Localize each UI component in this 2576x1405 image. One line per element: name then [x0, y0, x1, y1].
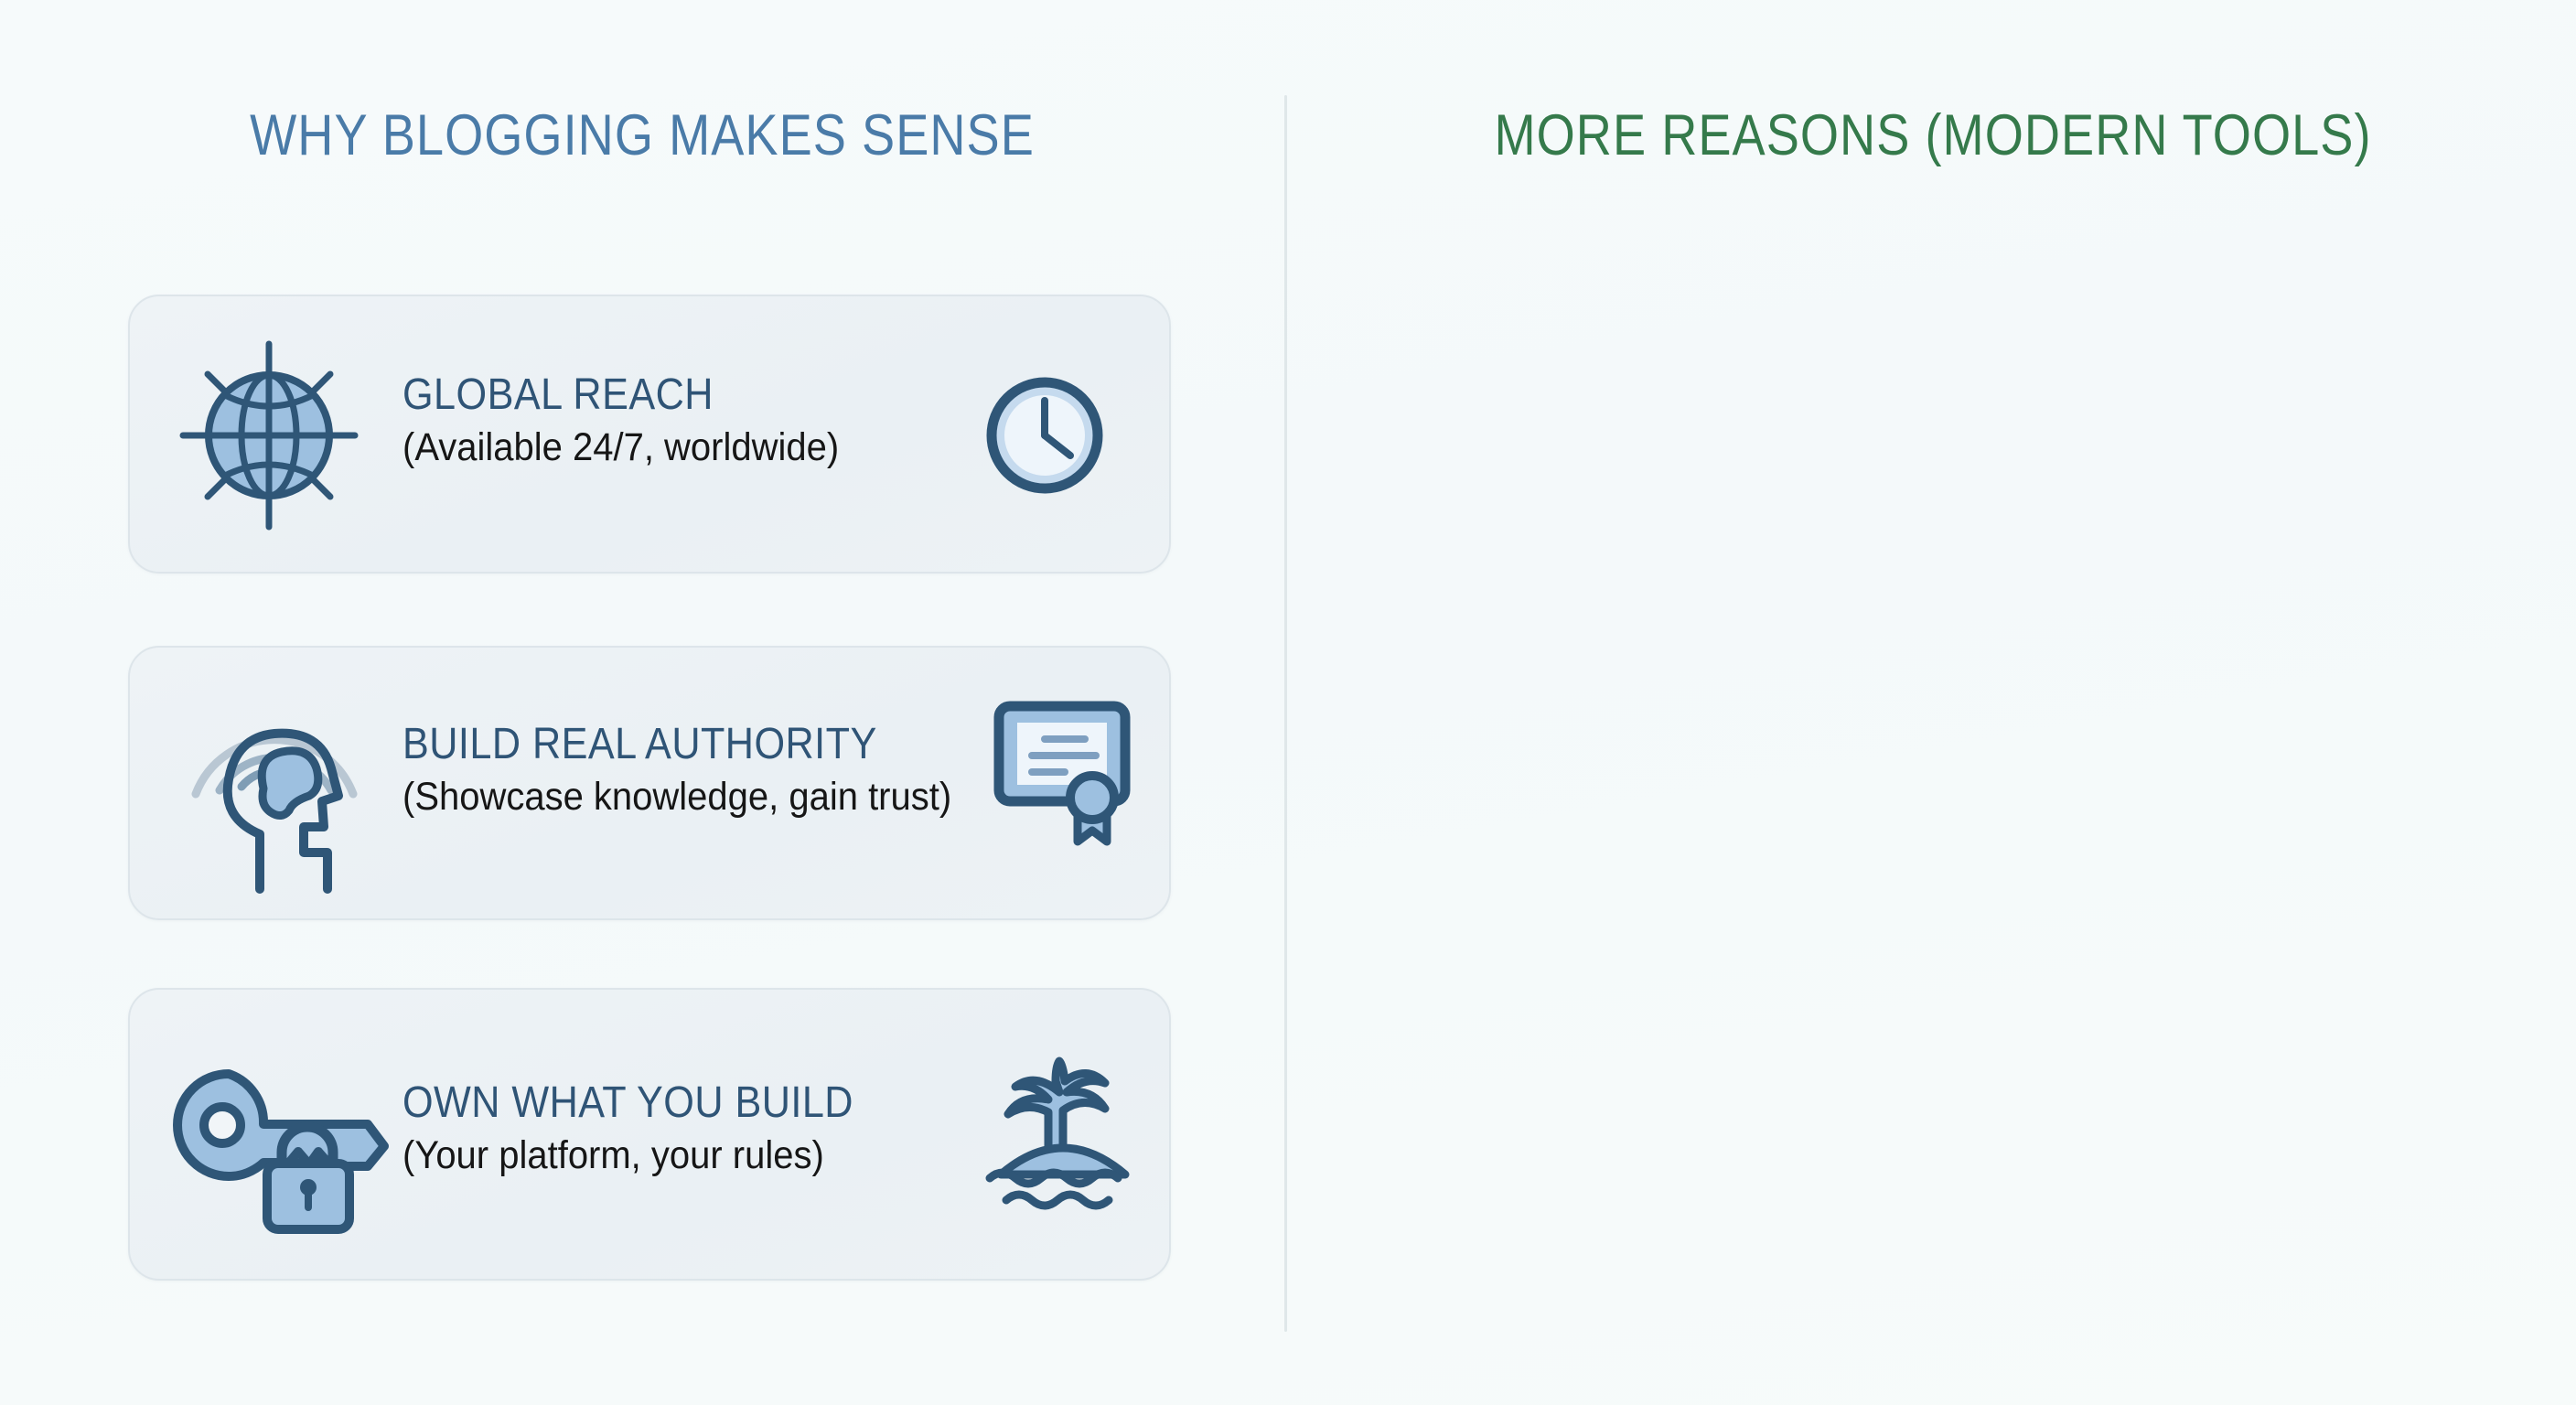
certificate-icon	[990, 695, 1136, 855]
card-own-what-you-build-text: OWN WHAT YOU BUILD (Your platform, your …	[402, 1078, 904, 1178]
key-padlock-icon	[165, 1061, 390, 1235]
card-global-reach-subtitle: (Available 24/7, worldwide)	[402, 425, 839, 470]
card-build-authority-subtitle: (Showcase knowledge, gain trust)	[402, 775, 951, 820]
card-build-authority[interactable]: BUILD REAL AUTHORITY (Showcase knowledge…	[128, 646, 1171, 920]
palm-island-icon	[981, 1061, 1145, 1217]
card-own-what-you-build[interactable]: OWN WHAT YOU BUILD (Your platform, your …	[128, 988, 1171, 1281]
column-divider	[1284, 95, 1287, 1332]
globe-icon	[177, 338, 360, 532]
left-column-heading: WHY BLOGGING MAKES SENSE	[90, 102, 1194, 168]
card-build-authority-text: BUILD REAL AUTHORITY (Showcase knowledge…	[402, 719, 993, 820]
card-build-authority-title: BUILD REAL AUTHORITY	[402, 719, 934, 769]
left-column: WHY BLOGGING MAKES SENSE	[0, 0, 1284, 168]
card-own-what-you-build-title: OWN WHAT YOU BUILD	[402, 1078, 853, 1128]
right-column: MORE REASONS (MODERN TOOLS)	[1290, 0, 2576, 168]
card-own-what-you-build-subtitle: (Your platform, your rules)	[402, 1133, 868, 1178]
card-global-reach-text: GLOBAL REACH (Available 24/7, worldwide)	[402, 370, 872, 470]
clock-icon	[981, 371, 1109, 499]
right-column-heading: MORE REASONS (MODERN TOOLS)	[1379, 102, 2485, 168]
card-global-reach[interactable]: GLOBAL REACH (Available 24/7, worldwide)	[128, 295, 1171, 574]
card-global-reach-title: GLOBAL REACH	[402, 370, 825, 420]
head-brain-waves-icon	[165, 673, 384, 897]
infographic-canvas: WHY BLOGGING MAKES SENSE	[0, 0, 2576, 1405]
